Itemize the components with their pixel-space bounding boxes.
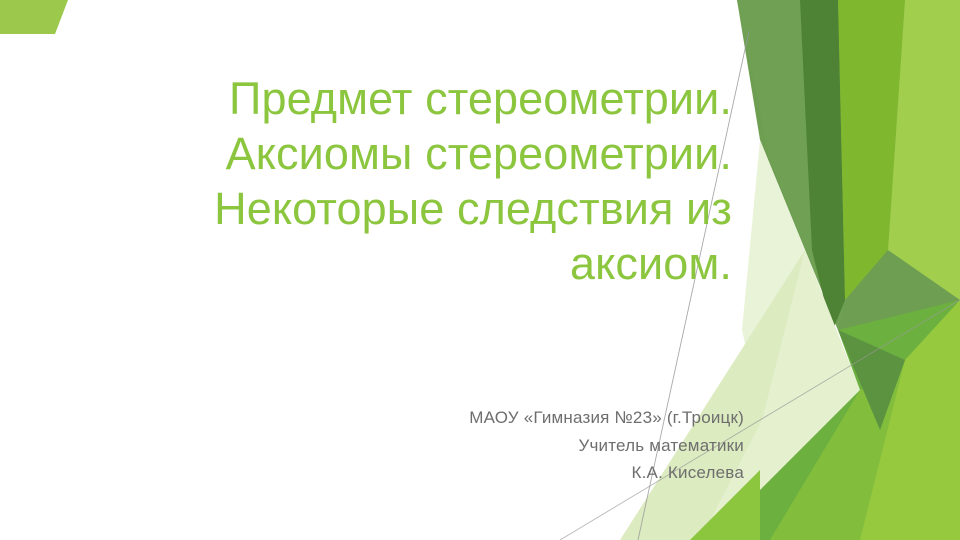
facet-lime-right-edge — [888, 0, 960, 300]
facet-yellow-green-wedge — [838, 0, 905, 300]
facet-muted-green-band — [737, 0, 845, 330]
facet-dark-green-wedge — [800, 0, 845, 332]
subtitle-line-organization: МАОУ «Гимназия №23» (г.Троицк) — [300, 404, 744, 432]
facet-pale-wedge-upper — [742, 140, 805, 420]
subtitle-line-role: Учитель математики — [300, 432, 744, 460]
facet-lime-lower-right — [860, 300, 960, 540]
subtitle-line-author: К.А. Киселева — [300, 459, 744, 487]
facet-bright-green-lower — [770, 330, 960, 540]
facet-dark-green-lower — [838, 330, 905, 430]
corner-accent-shape — [0, 0, 68, 34]
facet-mid-green-lower — [710, 300, 960, 540]
title-slide: Предмет стереометрии. Аксиомы стереометр… — [0, 0, 960, 540]
facet-mid-green-upper — [737, 0, 960, 330]
title-placeholder[interactable]: Предмет стереометрии. Аксиомы стереометр… — [108, 72, 732, 292]
subtitle-placeholder[interactable]: МАОУ «Гимназия №23» (г.Троицк) Учитель м… — [300, 404, 744, 487]
page-title: Предмет стереометрии. Аксиомы стереометр… — [108, 72, 732, 292]
facet-pale-overlay — [700, 250, 860, 540]
facet-pale-wedge-lower — [620, 250, 860, 540]
